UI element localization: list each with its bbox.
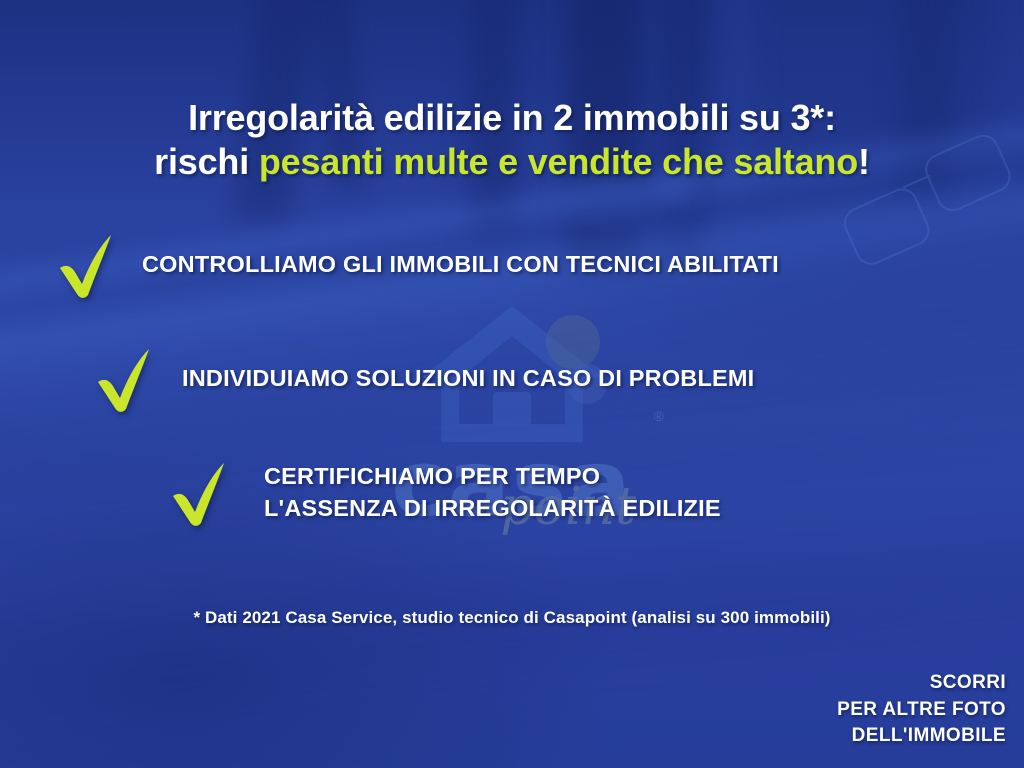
promo-poster: casa point ® Irregolarità edilizie in 2 …	[0, 0, 1024, 768]
list-item: CONTROLLIAMO GLI IMMOBILI CON TECNICI AB…	[55, 230, 1024, 300]
list-item: INDIVIDUIAMO SOLUZIONI IN CASO DI PROBLE…	[93, 344, 1024, 414]
headline-line-2-prefix: rischi	[154, 141, 259, 182]
headline-line-2: rischi pesanti multe e vendite che salta…	[0, 140, 1024, 184]
check-mark-icon	[55, 230, 117, 300]
list-item-label-multiline: CERTIFICHIAMO PER TEMPO L'ASSENZA DI IRR…	[264, 461, 721, 524]
benefit-list: CONTROLLIAMO GLI IMMOBILI CON TECNICI AB…	[0, 230, 1024, 528]
check-mark-icon	[168, 458, 230, 528]
headline: Irregolarità edilizie in 2 immobili su 3…	[0, 96, 1024, 184]
headline-line-1: Irregolarità edilizie in 2 immobili su 3…	[0, 96, 1024, 140]
headline-line-2-suffix: !	[858, 141, 870, 182]
list-item-label: INDIVIDUIAMO SOLUZIONI IN CASO DI PROBLE…	[182, 363, 754, 395]
list-item-label-line-2: L'ASSENZA DI IRREGOLARITÀ EDILIZIE	[264, 493, 721, 525]
scroll-cta-line-1: SCORRI	[837, 670, 1006, 697]
list-item-label: CONTROLLIAMO GLI IMMOBILI CON TECNICI AB…	[142, 249, 779, 281]
check-mark-icon	[93, 344, 155, 414]
list-item: CERTIFICHIAMO PER TEMPO L'ASSENZA DI IRR…	[168, 458, 1024, 528]
scroll-call-to-action: SCORRI PER ALTRE FOTO DELL'IMMOBILE	[837, 670, 1006, 750]
headline-line-2-highlight: pesanti multe e vendite che saltano	[259, 141, 858, 182]
scroll-cta-line-3: DELL'IMMOBILE	[837, 723, 1006, 750]
list-item-label-line-1: CERTIFICHIAMO PER TEMPO	[264, 461, 721, 493]
footnote: * Dati 2021 Casa Service, studio tecnico…	[0, 608, 1024, 628]
scroll-cta-line-2: PER ALTRE FOTO	[837, 697, 1006, 724]
